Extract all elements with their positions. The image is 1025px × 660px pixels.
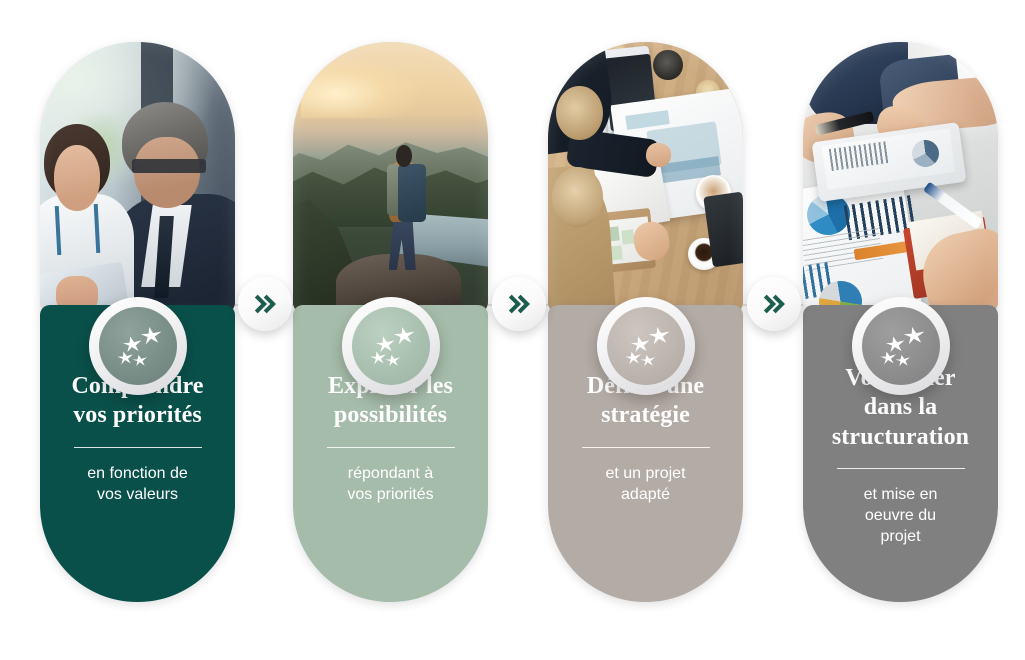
step-card-1[interactable]: Comprendre vos priorités en fonction de … xyxy=(40,42,235,602)
step-subtitle-4: et mise en oeuvre du projet xyxy=(813,484,988,548)
step-divider xyxy=(837,468,965,469)
photo-detail xyxy=(552,167,603,227)
step-divider xyxy=(327,447,455,448)
step-photo-1 xyxy=(40,42,235,314)
photo-detail xyxy=(556,86,603,140)
double-chevron-right-icon xyxy=(252,291,278,317)
step-card-4[interactable]: Vous aider dans la structuration et mise… xyxy=(803,42,998,602)
next-step-arrow-2[interactable] xyxy=(492,277,546,331)
step-photo-3 xyxy=(548,42,743,314)
step-subtitle-2: répondant à vos priorités xyxy=(303,463,478,506)
bnp-flying-stars-logo-icon xyxy=(862,307,940,385)
photo-detail xyxy=(301,58,418,118)
next-step-arrow-3[interactable] xyxy=(747,277,801,331)
double-chevron-right-icon xyxy=(761,291,787,317)
next-step-arrow-1[interactable] xyxy=(238,277,292,331)
process-steps-infographic: Comprendre vos priorités en fonction de … xyxy=(0,0,1025,660)
bnp-flying-stars-logo-icon xyxy=(352,307,430,385)
step-subtitle-3: et un projet adapté xyxy=(558,463,733,506)
step-logo-badge-2 xyxy=(342,297,440,395)
photo-detail xyxy=(396,145,412,167)
photo-detail xyxy=(653,50,682,80)
step-card-2[interactable]: Explorer les possibilités répondant à vo… xyxy=(293,42,488,602)
step-logo-badge-4 xyxy=(852,297,950,395)
photo-detail xyxy=(134,137,200,208)
step-divider xyxy=(582,447,710,448)
photo-detail xyxy=(54,145,101,210)
photo-detail xyxy=(132,159,206,173)
step-logo-badge-1 xyxy=(89,297,187,395)
photo-detail xyxy=(54,204,99,255)
step-divider xyxy=(74,447,202,448)
step-photo-2 xyxy=(293,42,488,314)
double-chevron-right-icon xyxy=(506,291,532,317)
step-logo-badge-3 xyxy=(597,297,695,395)
step-subtitle-1: en fonction de vos valeurs xyxy=(50,463,225,506)
bnp-flying-stars-logo-icon xyxy=(99,307,177,385)
step-photo-4 xyxy=(803,42,998,314)
bnp-flying-stars-logo-icon xyxy=(607,307,685,385)
step-card-3[interactable]: Définir une stratégie et un projet adapt… xyxy=(548,42,743,602)
photo-detail xyxy=(398,164,425,221)
